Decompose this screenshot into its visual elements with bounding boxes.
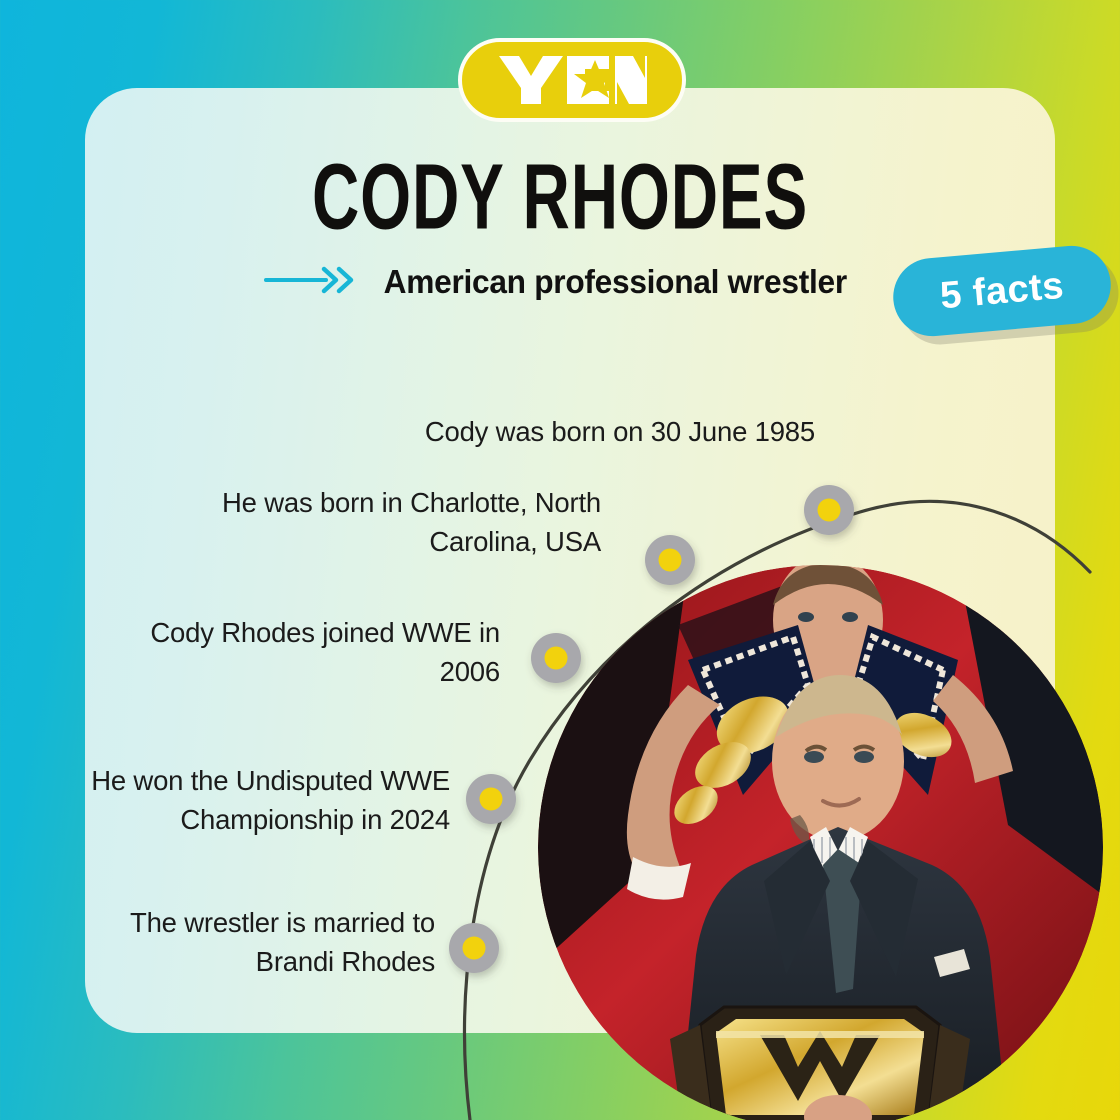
fact-item: The wrestler is married to Brandi Rhodes	[85, 903, 435, 981]
fact-item: He won the Undisputed WWE Championship i…	[60, 761, 450, 839]
portrait-photo	[538, 565, 1103, 1120]
yen-star-logo-icon	[497, 54, 647, 106]
fact-item: Cody was born on 30 June 1985	[400, 412, 815, 451]
page-title: CODY RHODES	[112, 145, 1008, 251]
yen-logo-pill[interactable]	[458, 38, 686, 122]
arrow-right-chevrons-icon	[264, 266, 358, 299]
fact-item: He was born in Charlotte, North Carolina…	[185, 483, 601, 561]
fact-item: Cody Rhodes joined WWE in 2006	[120, 613, 500, 691]
page-subtitle: American professional wrestler	[383, 263, 846, 301]
facts-count-label: 5 facts	[938, 264, 1065, 318]
